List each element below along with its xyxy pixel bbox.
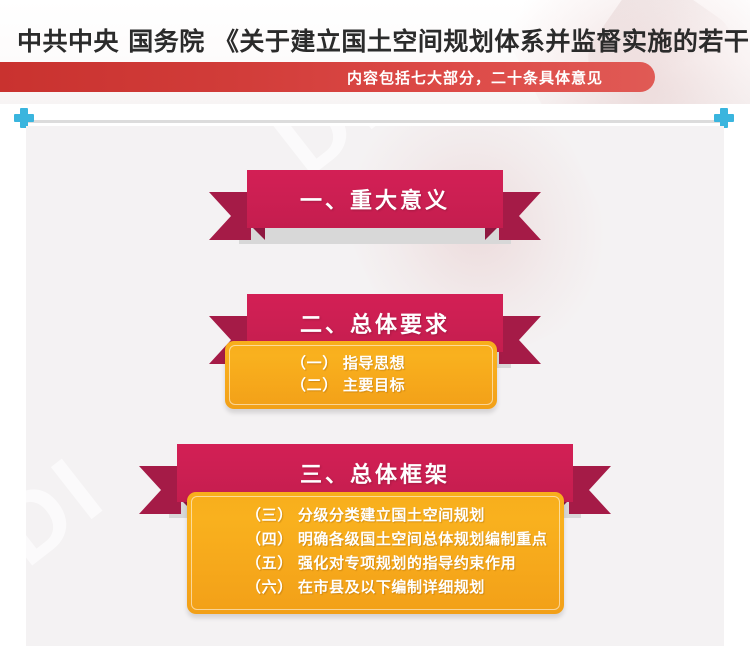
- subtitle-text: 内容包括七大部分，二十条具体意见: [347, 67, 603, 88]
- section-three-items-panel: （三）分级分类建立国土空间规划 （四）明确各级国土空间总体规划编制重点 （五）强…: [187, 492, 564, 614]
- ribbon-tail-right: [569, 466, 611, 514]
- list-item[interactable]: （六）在市县及以下编制详细规划: [246, 575, 564, 599]
- item-number: （六）: [246, 578, 293, 596]
- item-number: （四）: [246, 530, 293, 548]
- item-label: 强化对专项规划的指导约束作用: [298, 554, 516, 572]
- ribbon-tail-right: [499, 316, 541, 364]
- content-area: DI DI 一、重大意义 二、总体要求 （一）指导思想 （二）主要目标: [26, 126, 724, 646]
- separator-line: [26, 120, 724, 123]
- item-number: （一）: [291, 354, 338, 372]
- ribbon-tail-right: [499, 192, 541, 240]
- item-number: （二）: [291, 376, 338, 394]
- item-label: 在市县及以下编制详细规划: [298, 578, 485, 596]
- item-number: （五）: [246, 554, 293, 572]
- page-header: 中共中央 国务院 《关于建立国土空间规划体系并监督实施的若干意见》 内容包括七大…: [0, 0, 750, 104]
- section-heading-two: 二、总体要求: [300, 307, 450, 339]
- plus-marker-icon-left: [14, 108, 34, 128]
- list-item[interactable]: （五）强化对专项规划的指导约束作用: [246, 551, 564, 575]
- subtitle-banner: 内容包括七大部分，二十条具体意见: [0, 62, 655, 92]
- item-label: 分级分类建立国土空间规划: [298, 506, 485, 524]
- item-label: 指导思想: [343, 354, 405, 372]
- section-three-item-list: （三）分级分类建立国土空间规划 （四）明确各级国土空间总体规划编制重点 （五）强…: [187, 503, 564, 599]
- plus-marker-icon-right: [714, 108, 734, 128]
- ribbon-body: 一、重大意义: [247, 170, 503, 228]
- item-label: 明确各级国土空间总体规划编制重点: [298, 530, 548, 548]
- section-banner-one[interactable]: 一、重大意义: [209, 170, 541, 248]
- section-heading-one: 一、重大意义: [300, 183, 450, 215]
- list-item[interactable]: （四）明确各级国土空间总体规划编制重点: [246, 527, 564, 551]
- ribbon-tail-left: [139, 466, 181, 514]
- item-number: （三）: [246, 506, 293, 524]
- list-item[interactable]: （二）主要目标: [291, 374, 497, 396]
- separator: [0, 104, 750, 126]
- watermark-text-bottom: DI: [26, 434, 126, 587]
- section-two-items-panel: （一）指导思想 （二）主要目标: [225, 341, 497, 409]
- item-label: 主要目标: [343, 376, 405, 394]
- ribbon-tail-left: [209, 192, 251, 240]
- page-title: 中共中央 国务院 《关于建立国土空间规划体系并监督实施的若干意见》: [17, 22, 750, 58]
- list-item[interactable]: （一）指导思想: [291, 352, 497, 374]
- section-two-item-list: （一）指导思想 （二）主要目标: [225, 352, 497, 396]
- list-item[interactable]: （三）分级分类建立国土空间规划: [246, 503, 564, 527]
- section-heading-three: 三、总体框架: [300, 457, 450, 489]
